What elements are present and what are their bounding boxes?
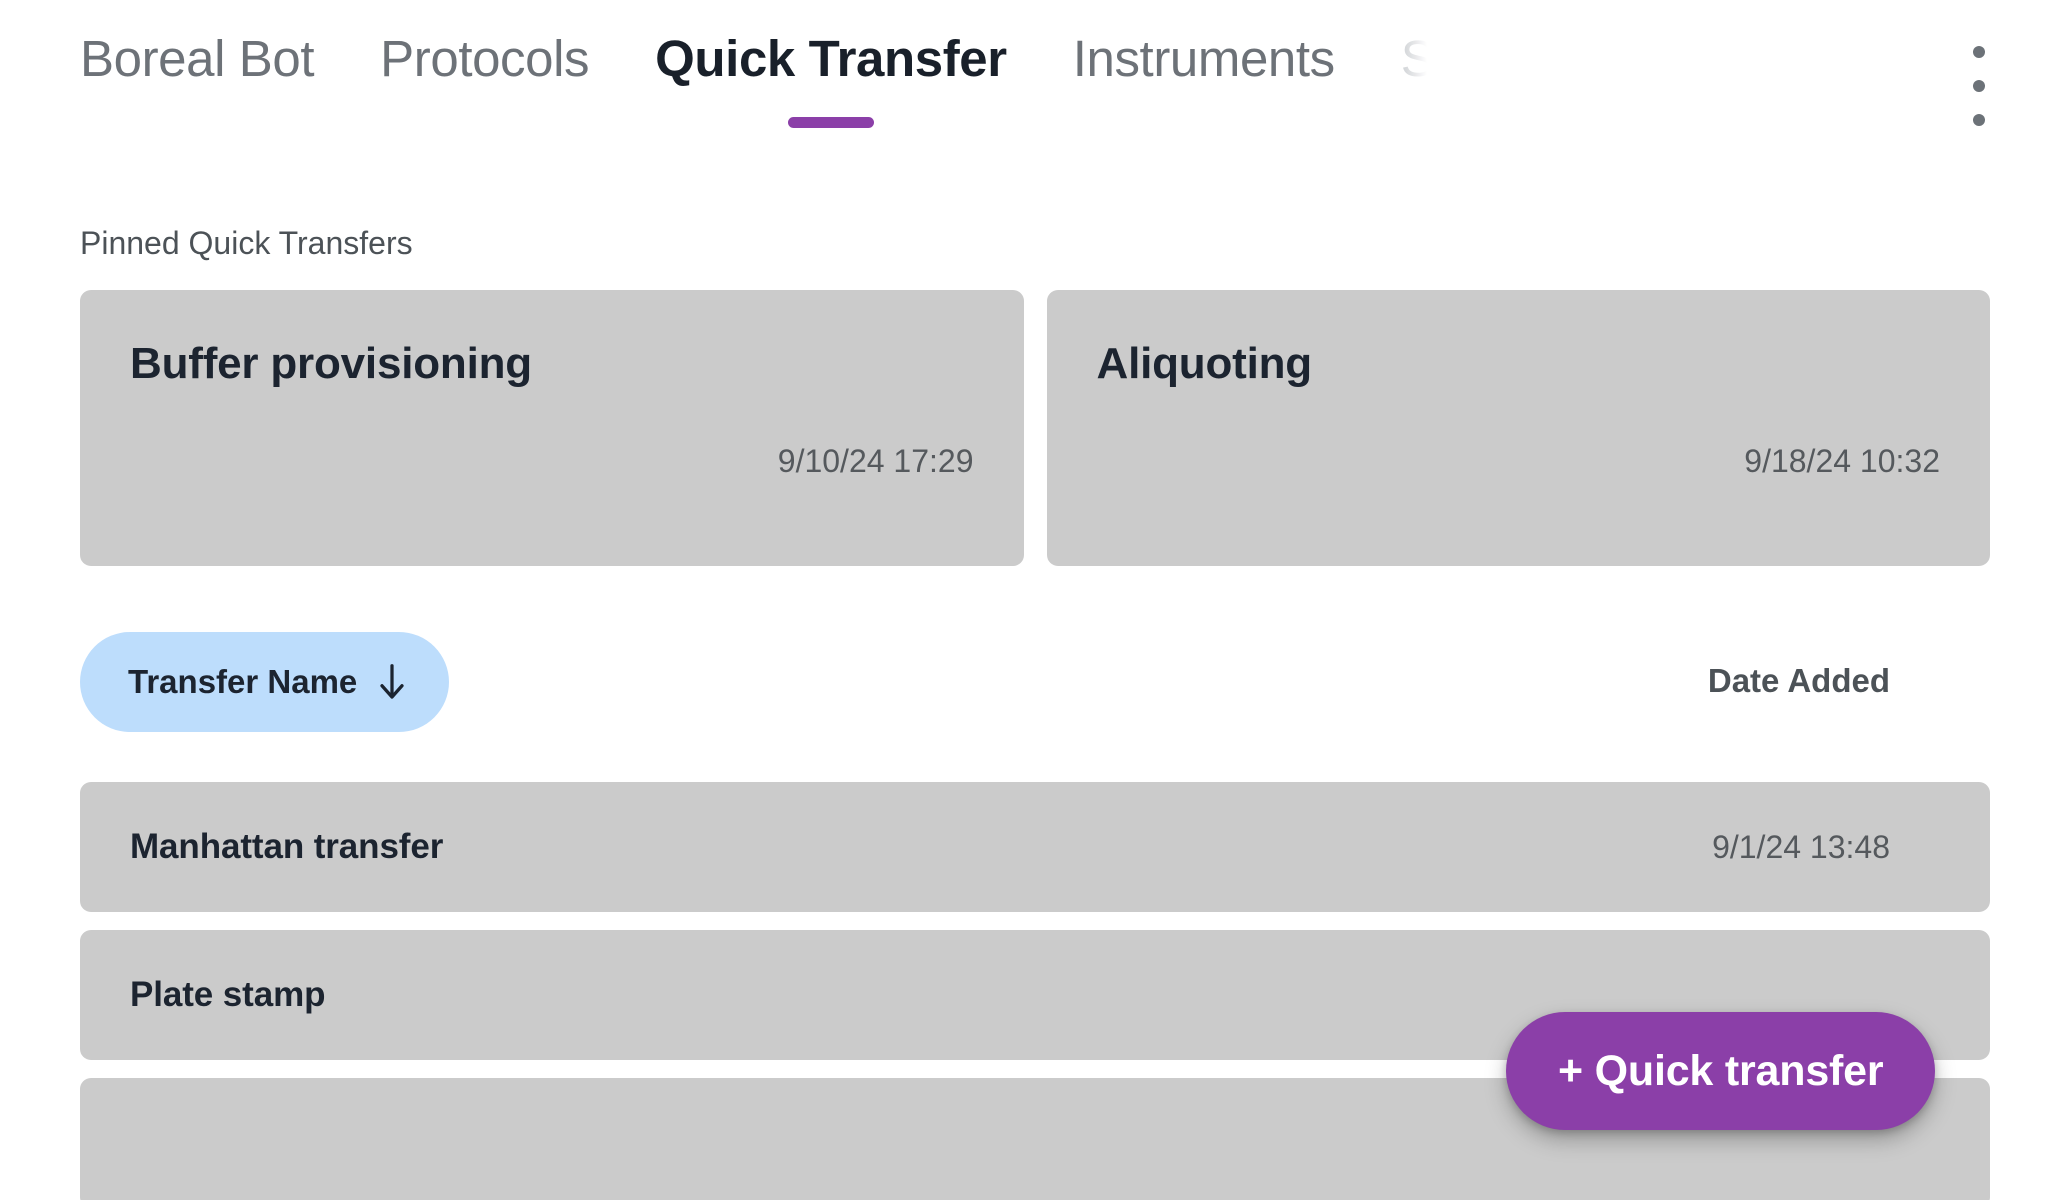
top-navigation-bar: Boreal Bot Protocols Quick Transfer Inst… — [0, 0, 2049, 155]
pinned-card-title: Aliquoting — [1097, 338, 1941, 390]
pinned-quick-transfers-list: Buffer provisioning 9/10/24 17:29 Aliquo… — [80, 290, 1990, 566]
pinned-card-date: 9/10/24 17:29 — [778, 442, 974, 480]
transfer-row-date: 9/1/24 13:48 — [1712, 828, 1890, 866]
pinned-section-label: Pinned Quick Transfers — [80, 224, 413, 262]
arrow-down-icon — [377, 663, 407, 701]
tab-label: Boreal Bot — [80, 28, 314, 90]
app-root: Boreal Bot Protocols Quick Transfer Inst… — [0, 0, 2049, 1200]
sort-by-transfer-name-button[interactable]: Transfer Name — [80, 632, 449, 732]
tab-strip: Boreal Bot Protocols Quick Transfer Inst… — [80, 28, 1434, 128]
more-options-icon[interactable] — [1951, 46, 2007, 126]
transfer-list: Manhattan transfer 9/1/24 13:48 Plate st… — [80, 782, 1990, 1200]
pinned-card-title: Buffer provisioning — [130, 338, 974, 390]
dot — [1973, 46, 1985, 58]
tab-boreal-bot[interactable]: Boreal Bot — [80, 28, 314, 90]
tab-protocols[interactable]: Protocols — [380, 28, 589, 90]
tab-label: Instruments — [1073, 28, 1335, 90]
tab-instruments[interactable]: Instruments — [1073, 28, 1335, 90]
tab-label: Protocols — [380, 28, 589, 90]
dot — [1973, 114, 1985, 126]
transfer-list-header: Transfer Name Date Added — [80, 632, 1990, 732]
transfer-row-name: Plate stamp — [130, 974, 325, 1016]
tab-truncated-overflow[interactable]: S — [1401, 28, 1435, 90]
dot — [1973, 80, 1985, 92]
tab-label: Quick Transfer — [655, 28, 1007, 90]
pinned-card-date: 9/18/24 10:32 — [1744, 442, 1940, 480]
sort-pill-label: Transfer Name — [128, 663, 357, 701]
tab-active-underline — [788, 117, 874, 128]
pinned-card-buffer-provisioning[interactable]: Buffer provisioning 9/10/24 17:29 — [80, 290, 1024, 566]
add-quick-transfer-button[interactable]: + Quick transfer — [1506, 1012, 1935, 1130]
column-header-date-added: Date Added — [1708, 662, 1890, 700]
tab-label: S — [1401, 28, 1435, 90]
table-row[interactable]: Manhattan transfer 9/1/24 13:48 — [80, 782, 1990, 912]
pinned-card-aliquoting[interactable]: Aliquoting 9/18/24 10:32 — [1047, 290, 1991, 566]
transfer-row-name: Manhattan transfer — [130, 826, 443, 868]
tab-quick-transfer[interactable]: Quick Transfer — [655, 28, 1007, 128]
